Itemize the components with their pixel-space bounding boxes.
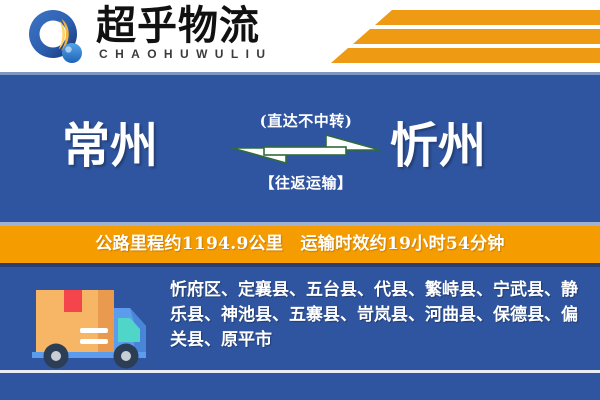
stripe-1 — [392, 10, 600, 25]
round-trip-note: 【往返运输】 — [228, 174, 384, 192]
bottom-divider — [0, 370, 600, 373]
circle-q-logo-icon — [28, 9, 86, 65]
stripe-2 — [370, 29, 600, 44]
route-middle-group: (直达不中转) 【往返运输】 — [228, 112, 384, 204]
distance-duration-text: 公路里程约1194.9公里 运输时效约19小时54分钟 — [95, 236, 504, 253]
distance-duration-bar: 公路里程约1194.9公里 运输时效约19小时54分钟 — [0, 226, 600, 263]
stripe-3 — [348, 48, 600, 63]
double-headed-arrow-icon — [230, 133, 382, 165]
destination-city: 忻州 — [390, 122, 486, 170]
delivery-truck-icon — [26, 282, 160, 374]
coverage-area-list: 忻府区、定襄县、五台县、代县、繁峙县、宁武县、静乐县、神池县、五寨县、岢岚县、河… — [170, 278, 578, 353]
brand-name-en: CHAOHUWULIU — [99, 48, 272, 60]
logistics-route-banner: 超乎物流 CHAOHUWULIU 常州 忻州 (直达不中转) 【往返运输】 公路… — [0, 0, 600, 400]
direct-route-note: (直达不中转) — [228, 112, 384, 130]
brand-name-cn: 超乎物流 — [96, 6, 260, 46]
header-stripes-decoration — [330, 0, 600, 72]
banner-header: 超乎物流 CHAOHUWULIU — [0, 0, 600, 72]
origin-city: 常州 — [62, 122, 158, 170]
